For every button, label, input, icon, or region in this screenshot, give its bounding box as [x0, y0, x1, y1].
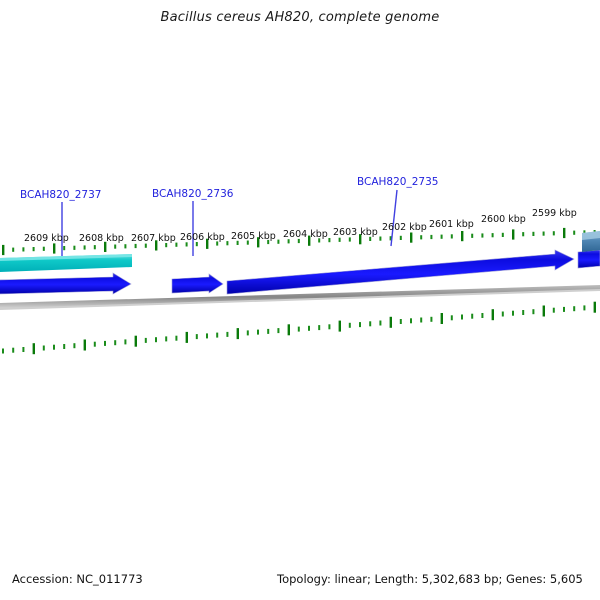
axis-tick-label: 2609 kbp — [24, 233, 69, 244]
accession-text: Accession: NC_011773 — [12, 572, 143, 586]
axis-tick-label: 2604 kbp — [283, 229, 328, 240]
axis-tick-label: 2605 kbp — [231, 231, 276, 242]
gene-label[interactable]: BCAH820_2737 — [20, 189, 101, 201]
axis-tick-label: 2602 kbp — [382, 222, 427, 233]
axis-tick-label: 2599 kbp — [532, 208, 577, 219]
axis-tick-label: 2607 kbp — [131, 233, 176, 244]
gene-label[interactable]: BCAH820_2735 — [357, 176, 438, 188]
genome-stats-text: Topology: linear; Length: 5,302,683 bp; … — [277, 572, 583, 586]
axis-tick-label: 2606 kbp — [180, 232, 225, 243]
genome-viewer: Bacillus cereus AH820, complete genome — [0, 0, 600, 600]
axis-tick-label: 2601 kbp — [429, 219, 474, 230]
gene-label[interactable]: BCAH820_2736 — [152, 188, 233, 200]
axis-tick-label: 2608 kbp — [79, 233, 124, 244]
gene-label-leader — [391, 190, 397, 246]
axis-tick-label: 2600 kbp — [481, 214, 526, 225]
label-leader-lines — [0, 0, 600, 600]
axis-tick-label: 2603 kbp — [333, 227, 378, 238]
